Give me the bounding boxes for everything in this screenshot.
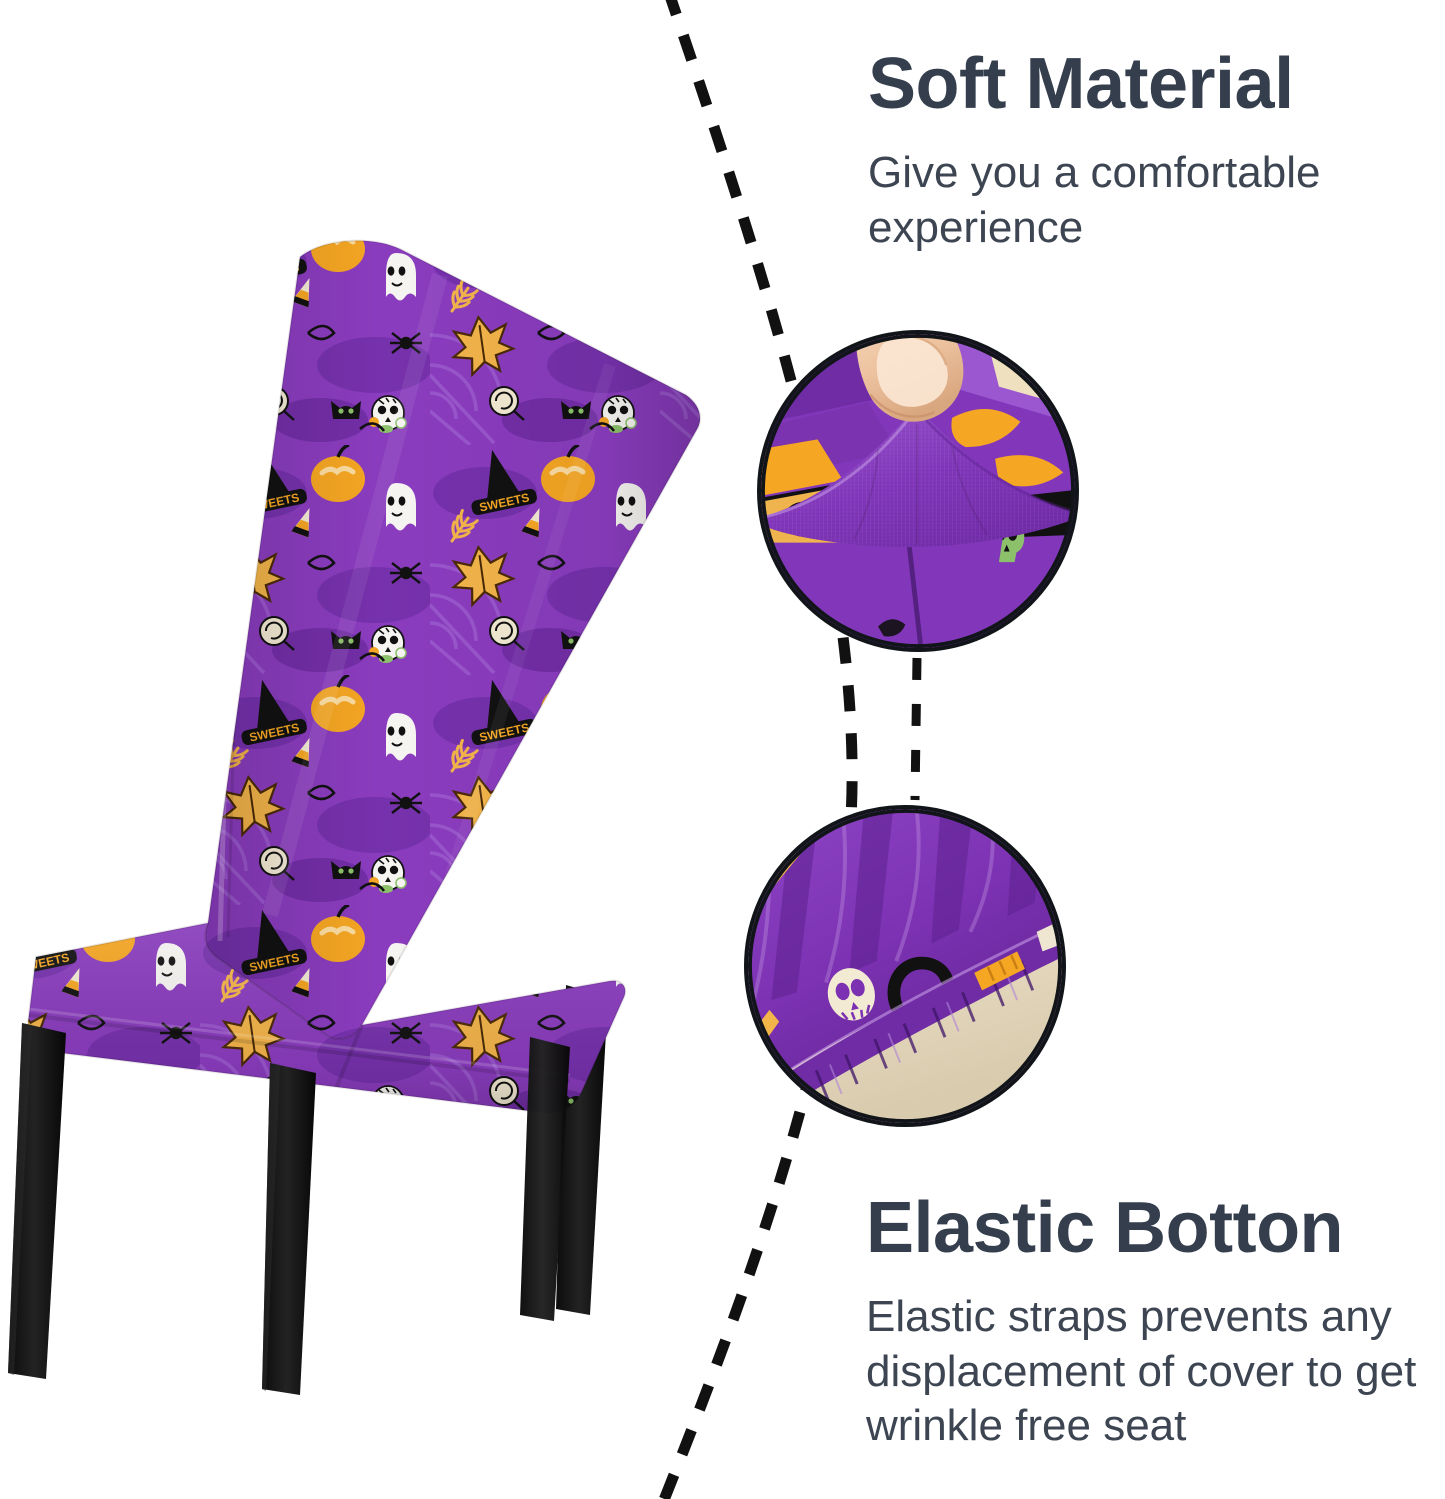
elastic-botton-body: Elastic straps prevents any displacement… <box>866 1290 1441 1454</box>
soft-material-body: Give you a comfortable experience <box>868 146 1408 255</box>
chair-with-slipcover: SWEETS <box>0 215 710 1395</box>
detail-photo-fabric-stretch <box>757 330 1079 652</box>
chair-leg-front-right <box>262 1063 316 1395</box>
chair-back-cover <box>170 215 710 1075</box>
callout-elastic-botton: Elastic Botton Elastic straps prevents a… <box>866 1192 1441 1454</box>
elastic-botton-heading: Elastic Botton <box>866 1192 1441 1264</box>
product-feature-graphic: SWEETS <box>0 0 1445 1499</box>
detail-photo-elastic-hem <box>744 805 1066 1127</box>
chair-leg-front-left <box>8 1023 66 1379</box>
soft-material-heading: Soft Material <box>868 48 1408 120</box>
callout-soft-material: Soft Material Give you a comfortable exp… <box>868 48 1408 255</box>
leader-line-between-details <box>895 650 935 810</box>
